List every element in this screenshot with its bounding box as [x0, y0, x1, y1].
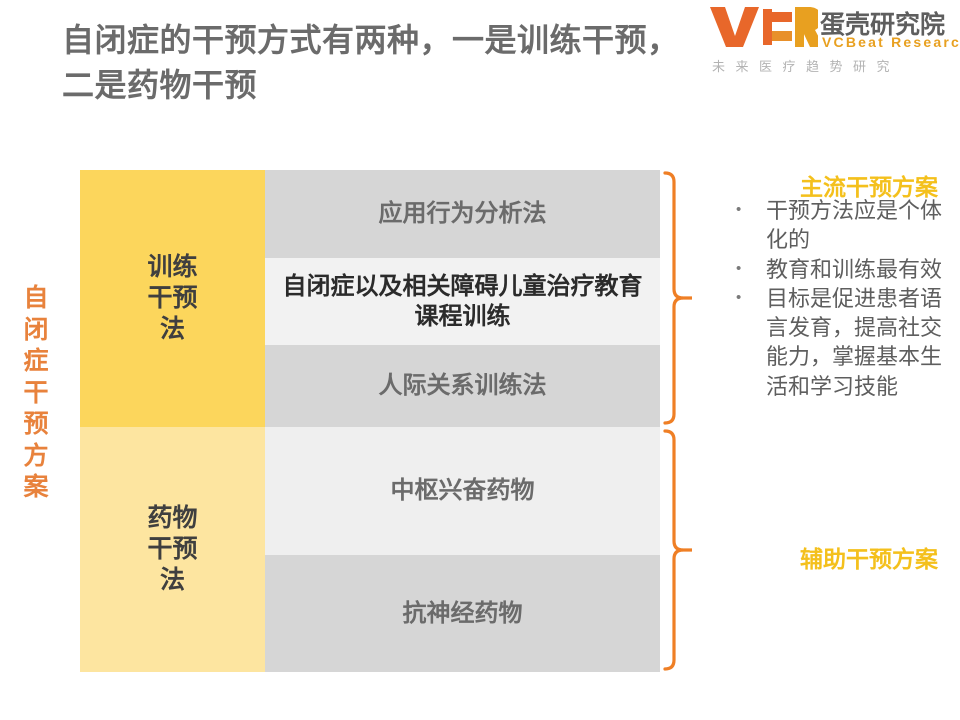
side-label-autism-plan: 自闭症干预方案 [18, 283, 54, 504]
logo-institute-en: VCBeat Research [822, 34, 960, 50]
intervention-matrix: 训练干预法应用行为分析法自闭症以及相关障碍儿童治疗教育课程训练人际关系训练法药物… [80, 170, 660, 672]
bullet-item: •教育和训练最有效 [736, 255, 946, 284]
bullet-dot-icon: • [736, 284, 766, 312]
matrix-group-rows: 中枢兴奋药物抗神经药物 [265, 427, 660, 672]
bullet-dot-icon: • [736, 255, 766, 283]
logo: 蛋壳研究院 VCBeat Research 未来医疗趋势研究 [708, 6, 956, 80]
matrix-row: 中枢兴奋药物 [265, 427, 660, 555]
vbr-logo-icon [710, 6, 818, 48]
matrix-row-label: 自闭症以及相关障碍儿童治疗教育课程训练 [273, 272, 652, 331]
curly-brace-icon [662, 428, 692, 672]
matrix-row: 人际关系训练法 [265, 345, 660, 427]
bullet-item: •目标是促进患者语言发育，提高社交能力，掌握基本生活和学习技能 [736, 284, 946, 401]
panel-heading: 辅助干预方案 [800, 540, 938, 574]
matrix-row-label: 应用行为分析法 [379, 199, 547, 228]
matrix-row-label: 抗神经药物 [403, 599, 523, 628]
logo-top-row: 蛋壳研究院 VCBeat Research [708, 6, 956, 50]
bullet-list: •干预方法应是个体化的•教育和训练最有效•目标是促进患者语言发育，提高社交能力，… [736, 196, 946, 401]
matrix-row: 应用行为分析法 [265, 170, 660, 258]
matrix-group: 药物干预法中枢兴奋药物抗神经药物 [80, 427, 660, 672]
matrix-group-label: 药物干预法 [80, 427, 265, 672]
matrix-row: 抗神经药物 [265, 555, 660, 672]
page-title: 自闭症的干预方式有两种，一是训练干预，二是药物干预 [62, 18, 682, 109]
matrix-group-rows: 应用行为分析法自闭症以及相关障碍儿童治疗教育课程训练人际关系训练法 [265, 170, 660, 427]
bullet-text: 教育和训练最有效 [766, 255, 946, 284]
curly-brace-icon [662, 170, 692, 426]
bullet-text: 干预方法应是个体化的 [766, 196, 946, 255]
matrix-row-label: 人际关系训练法 [379, 371, 547, 400]
bullet-item: •干预方法应是个体化的 [736, 196, 946, 255]
matrix-group: 训练干预法应用行为分析法自闭症以及相关障碍儿童治疗教育课程训练人际关系训练法 [80, 170, 660, 427]
matrix-row: 自闭症以及相关障碍儿童治疗教育课程训练 [265, 258, 660, 345]
matrix-group-label: 训练干预法 [80, 170, 265, 427]
matrix-row-label: 中枢兴奋药物 [391, 476, 535, 505]
bullet-text: 目标是促进患者语言发育，提高社交能力，掌握基本生活和学习技能 [766, 284, 946, 401]
bullet-dot-icon: • [736, 196, 766, 224]
logo-tagline: 未来医疗趋势研究 [712, 56, 900, 75]
